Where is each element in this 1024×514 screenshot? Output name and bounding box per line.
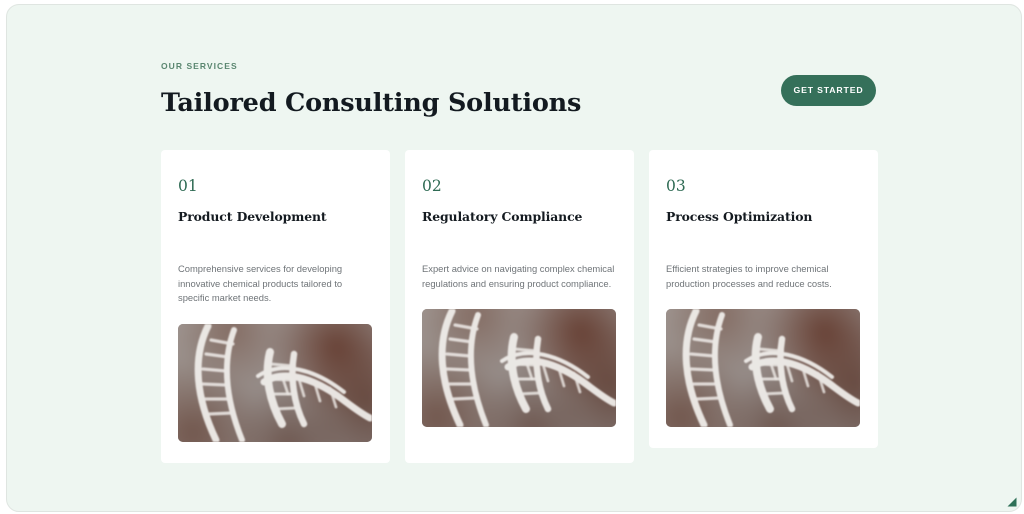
dna-helix-icon bbox=[178, 324, 372, 442]
card-number: 03 bbox=[666, 170, 861, 196]
service-card[interactable]: 01 Product Development Comprehensive ser… bbox=[161, 150, 390, 463]
card-description: Expert advice on navigating complex chem… bbox=[422, 225, 617, 291]
page-title: Tailored Consulting Solutions bbox=[161, 72, 881, 118]
page-container: OUR SERVICES Tailored Consulting Solutio… bbox=[6, 4, 1022, 512]
service-card[interactable]: 02 Regulatory Compliance Expert advice o… bbox=[405, 150, 634, 463]
card-number: 02 bbox=[422, 170, 617, 196]
service-card[interactable]: 03 Process Optimization Efficient strate… bbox=[649, 150, 878, 448]
card-description: Comprehensive services for developing in… bbox=[178, 225, 373, 306]
card-title: Product Development bbox=[178, 196, 373, 225]
section-header: OUR SERVICES Tailored Consulting Solutio… bbox=[161, 60, 881, 122]
card-title: Regulatory Compliance bbox=[422, 196, 617, 225]
dna-helix-image bbox=[178, 324, 372, 442]
card-description: Efficient strategies to improve chemical… bbox=[666, 225, 861, 291]
section-eyebrow: OUR SERVICES bbox=[161, 60, 881, 72]
card-number: 01 bbox=[178, 170, 373, 196]
services-card-row: 01 Product Development Comprehensive ser… bbox=[161, 150, 877, 465]
dna-helix-icon bbox=[422, 309, 616, 427]
dna-helix-image bbox=[422, 309, 616, 427]
card-title: Process Optimization bbox=[666, 196, 861, 225]
get-started-button[interactable]: GET STARTED bbox=[781, 75, 876, 106]
dna-helix-icon bbox=[666, 309, 860, 427]
resize-handle-icon[interactable] bbox=[1006, 496, 1017, 507]
dna-helix-image bbox=[666, 309, 860, 427]
